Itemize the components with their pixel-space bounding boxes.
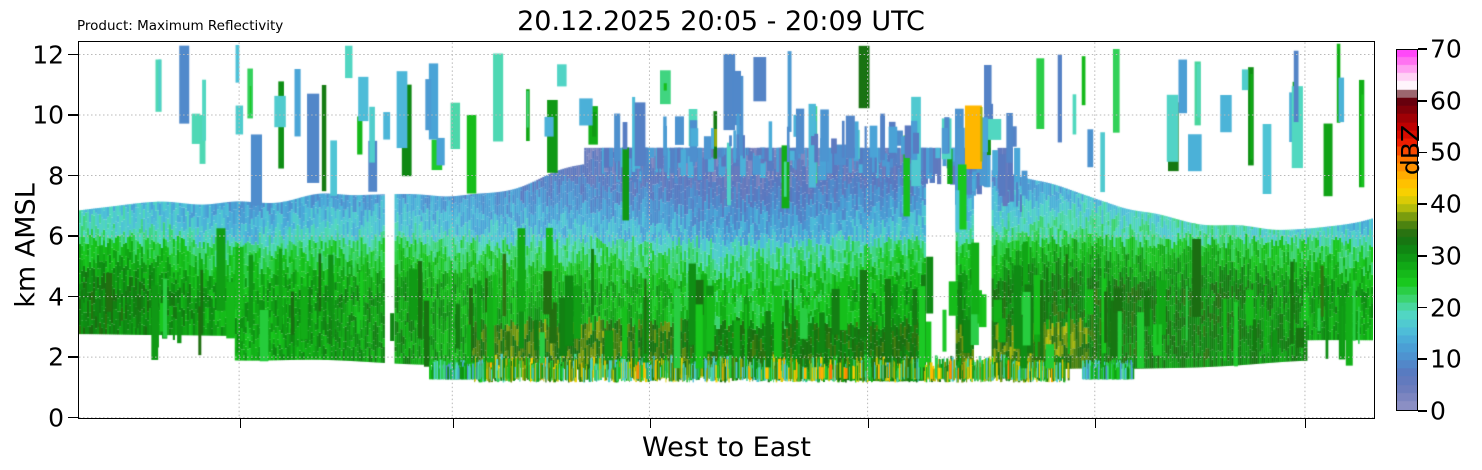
y-axis-tick-label: 0 [48,403,64,432]
x-axis-tick-mark [240,419,242,428]
colorbar-tick-label: 60 [1430,86,1462,115]
x-axis-tick-mark [650,419,652,428]
x-axis-label: West to East [78,432,1375,463]
y-axis-tick-label: 10 [32,101,64,130]
y-axis-tick-mark [68,114,78,116]
y-axis-label: km AMSL [11,146,42,346]
colorbar-tick-label: 70 [1430,35,1462,64]
x-axis-tick-mark [1095,419,1097,428]
y-axis-tick-mark [68,175,78,177]
y-axis-tick-label: 12 [32,40,64,69]
plot-area [78,41,1375,419]
x-axis-tick-mark [453,419,455,428]
y-axis-tick-label: 6 [48,222,64,251]
colorbar-label: dBZ [1396,70,1425,230]
y-axis-tick-mark [68,235,78,237]
y-axis-tick-mark [68,417,78,419]
y-axis-tick-label: 2 [48,343,64,372]
colorbar-tick-mark [1418,100,1427,102]
colorbar-tick-label: 30 [1430,241,1462,270]
colorbar-tick-mark [1418,410,1427,412]
radar-cross-section-figure: 20.12.2025 20:05 - 20:09 UTC Product: Ma… [0,0,1482,470]
y-axis-tick-mark [68,296,78,298]
colorbar-tick-label: 50 [1430,138,1462,167]
colorbar-tick-label: 10 [1430,345,1462,374]
colorbar-tick-label: 40 [1430,190,1462,219]
colorbar-tick-mark [1418,152,1427,154]
colorbar-tick-mark [1418,358,1427,360]
x-axis-tick-mark [1305,419,1307,428]
colorbar-tick-mark [1418,48,1427,50]
colorbar-tick-mark [1418,255,1427,257]
product-label: Product: Maximum Reflectivity [77,18,283,34]
y-axis-tick-mark [68,54,78,56]
y-axis-tick-label: 4 [48,282,64,311]
radar-heatmap-canvas [79,42,1373,417]
colorbar-tick-mark [1418,307,1427,309]
y-axis-tick-label: 8 [48,161,64,190]
x-axis-tick-mark [868,419,870,428]
y-axis-tick-mark [68,356,78,358]
colorbar-tick-label: 0 [1430,397,1446,426]
colorbar-tick-label: 20 [1430,293,1462,322]
colorbar-tick-mark [1418,203,1427,205]
